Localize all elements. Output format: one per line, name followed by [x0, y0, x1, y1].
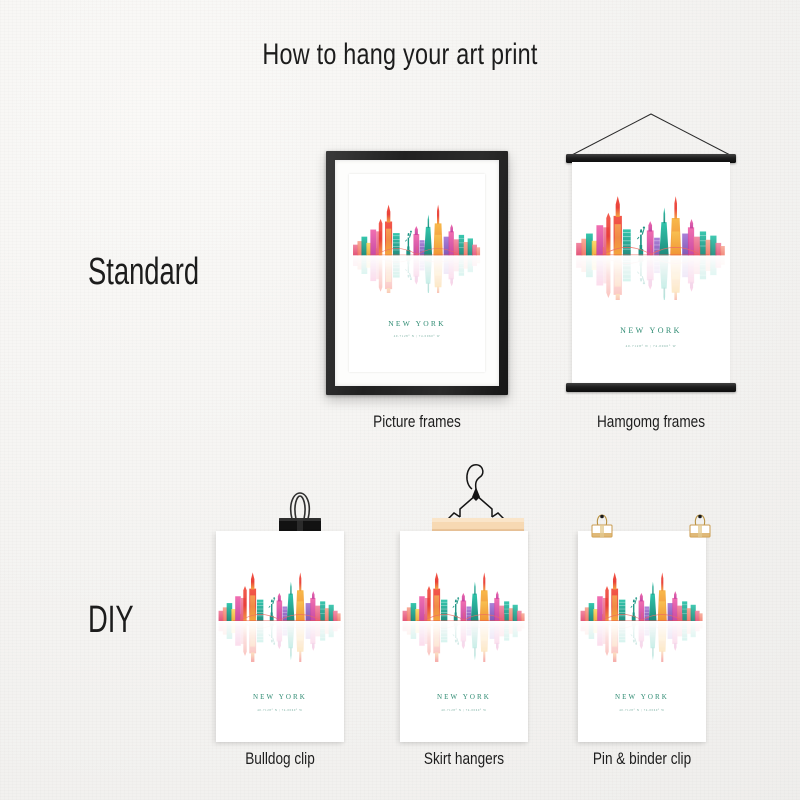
artwork-subtitle: 40.7128° N | 74.0060° W: [349, 334, 485, 338]
art-print-picture-frame: NEW YORK 40.7128° N | 74.0060° W: [349, 174, 485, 372]
skyline-artwork: [400, 565, 528, 662]
artwork-title: NEW YORK: [349, 319, 485, 328]
caption-pin-binder-clip: Pin & binder clip: [591, 749, 693, 769]
caption-skirt-hangers: Skirt hangers: [413, 749, 515, 769]
skyline-artwork: [349, 202, 485, 293]
section-label-standard: Standard: [88, 252, 199, 292]
artwork-title: NEW YORK: [216, 693, 344, 701]
caption-picture-frames: Picture frames: [344, 412, 490, 432]
binder-clip-right-icon[interactable]: [687, 513, 713, 541]
art-print-pin-binder: NEW YORK 40.7128° N | 74.0060° W: [578, 531, 706, 742]
picture-frame[interactable]: NEW YORK 40.7128° N | 74.0060° W: [326, 151, 508, 395]
section-label-diy: DIY: [88, 600, 134, 640]
page-title: How to hang your art print: [88, 38, 712, 72]
hanging-string: [566, 110, 736, 158]
art-print-hamgomg: NEW YORK 40.7128° N | 74.0060° W: [572, 162, 730, 384]
art-print-skirt-hanger: NEW YORK 40.7128° N | 74.0060° W: [400, 531, 528, 742]
artwork-title: NEW YORK: [400, 693, 528, 701]
artwork-subtitle: 40.7128° N | 74.0060° W: [400, 708, 528, 712]
artwork-title: NEW YORK: [578, 693, 706, 701]
artwork-title: NEW YORK: [572, 326, 730, 335]
picture-frame-mat: NEW YORK 40.7128° N | 74.0060° W: [335, 160, 499, 386]
caption-bulldog-clip: Bulldog clip: [229, 749, 331, 769]
hanger-bar-bottom: [566, 383, 736, 392]
artwork-subtitle: 40.7128° N | 74.0060° W: [216, 708, 344, 712]
artwork-subtitle: 40.7128° N | 74.0060° W: [578, 708, 706, 712]
caption-hamgomg-frames: Hamgomg frames: [583, 412, 719, 432]
art-print-bulldog: NEW YORK 40.7128° N | 74.0060° W: [216, 531, 344, 742]
skyline-artwork: [572, 193, 730, 300]
hamgomg-frame[interactable]: NEW YORK 40.7128° N | 74.0060° W: [566, 110, 736, 400]
skirt-hanger-icon[interactable]: [420, 455, 536, 541]
artwork-subtitle: 40.7128° N | 74.0060° W: [572, 344, 730, 348]
skyline-artwork: [216, 565, 344, 662]
binder-clip-left-icon[interactable]: [589, 513, 615, 541]
skyline-artwork: [578, 565, 706, 662]
